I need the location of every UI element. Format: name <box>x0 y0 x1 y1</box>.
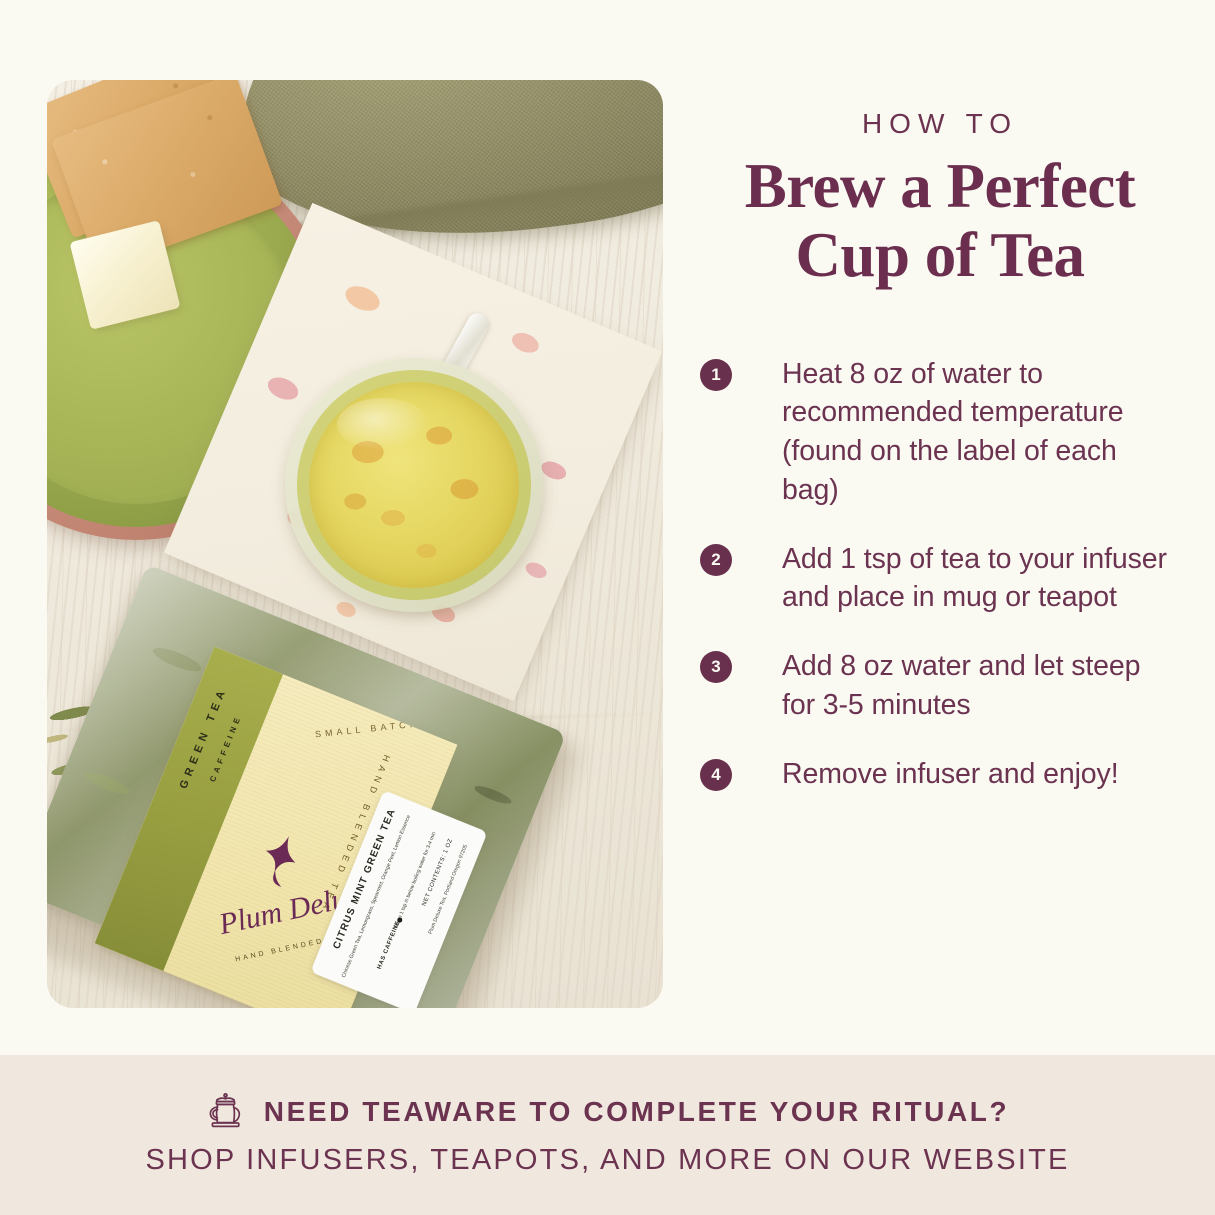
title-line-1: Brew a Perfect <box>745 151 1136 221</box>
hero-photo: GREEN TEA CAFFEINE HAND BLENDED TEA SMAL… <box>47 80 663 1008</box>
footer-headline-row: NEED TEAWARE TO COMPLETE YOUR RITUAL? <box>206 1093 1009 1131</box>
plum-deluxe-bird-logo <box>243 824 315 895</box>
step-number-badge: 1 <box>700 359 732 391</box>
step-number-badge: 2 <box>700 544 732 576</box>
footer-subtext: SHOP INFUSERS, TEAPOTS, AND MORE ON OUR … <box>145 1144 1069 1177</box>
infographic-canvas: GREEN TEA CAFFEINE HAND BLENDED TEA SMAL… <box>0 0 1215 1215</box>
list-item: 3 Add 8 oz water and let steep for 3-5 m… <box>700 647 1180 725</box>
step-text: Remove infuser and enjoy! <box>782 755 1119 794</box>
footer-banner: NEED TEAWARE TO COMPLETE YOUR RITUAL? SH… <box>0 1055 1215 1215</box>
title-line-2: Cup of Tea <box>795 220 1084 290</box>
page-title: Brew a Perfect Cup of Tea <box>700 152 1180 291</box>
list-item: 1 Heat 8 oz of water to recommended temp… <box>700 355 1180 510</box>
list-item: 2 Add 1 tsp of tea to your infuser and p… <box>700 540 1180 618</box>
list-item: 4 Remove infuser and enjoy! <box>700 755 1180 794</box>
eyebrow-text: HOW TO <box>700 108 1180 140</box>
step-text: Add 8 oz water and let steep for 3-5 min… <box>782 647 1180 725</box>
tea-highlight <box>337 398 429 450</box>
step-text: Add 1 tsp of tea to your infuser and pla… <box>782 540 1180 618</box>
teapot-icon <box>206 1093 246 1131</box>
footer-headline-text: NEED TEAWARE TO COMPLETE YOUR RITUAL? <box>264 1096 1009 1128</box>
steps-list: 1 Heat 8 oz of water to recommended temp… <box>700 355 1180 794</box>
step-number-badge: 3 <box>700 651 732 683</box>
instructions-panel: HOW TO Brew a Perfect Cup of Tea 1 Heat … <box>700 80 1180 823</box>
step-text: Heat 8 oz of water to recommended temper… <box>782 355 1180 510</box>
step-number-badge: 4 <box>700 759 732 791</box>
